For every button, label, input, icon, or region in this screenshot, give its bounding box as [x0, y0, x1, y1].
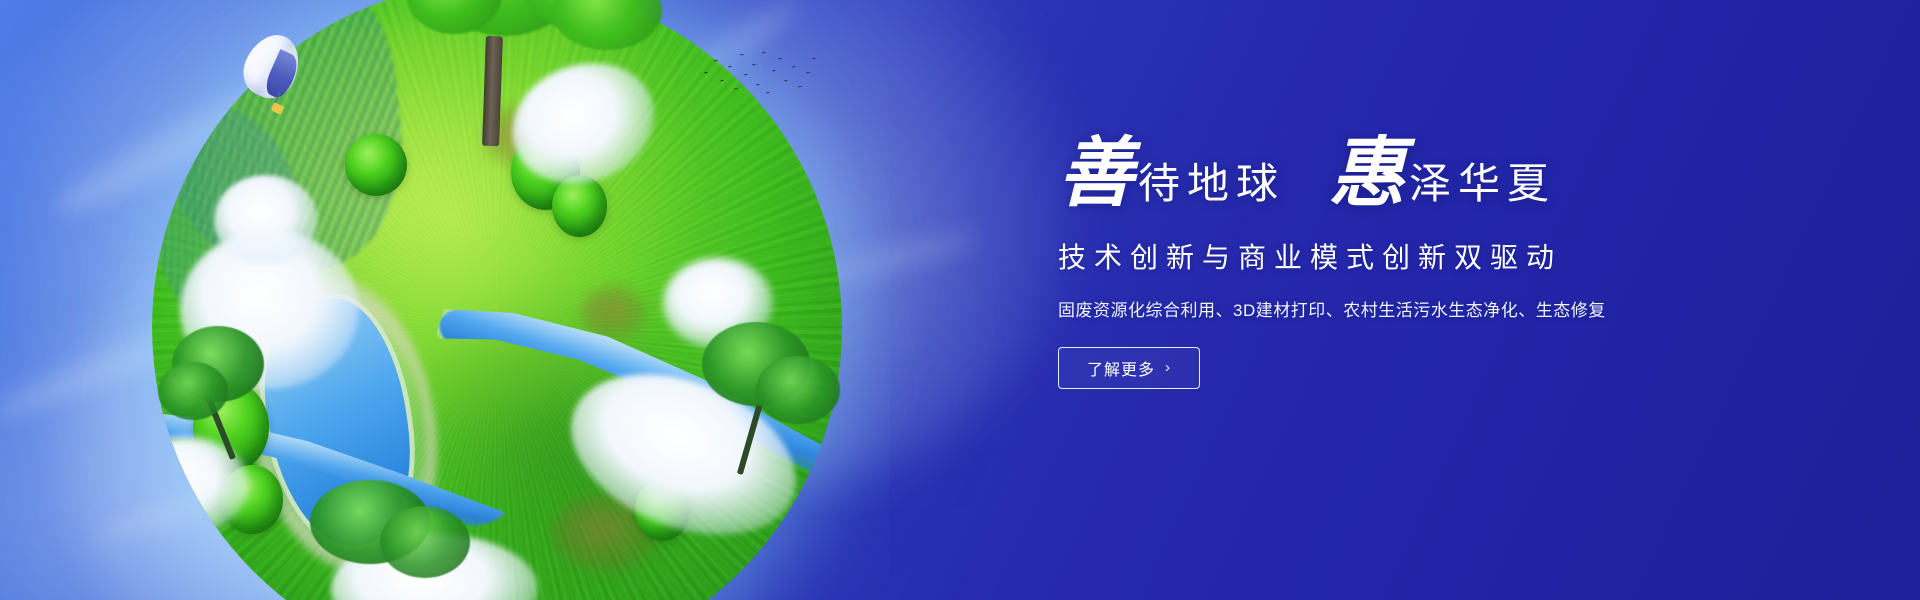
bird-icon	[784, 80, 788, 84]
bird-icon	[766, 92, 770, 96]
bird-icon	[756, 84, 760, 88]
eco-hero-banner: 善 待地球 惠 泽华夏 技术创新与商业模式创新双驱动 固废资源化综合利用、3D建…	[0, 0, 1920, 600]
balloon-basket	[271, 102, 285, 115]
bird-icon	[720, 80, 724, 84]
bird-icon	[734, 88, 738, 92]
bird-icon	[778, 58, 782, 62]
bird-icon	[752, 64, 756, 68]
bird-icon	[714, 60, 718, 64]
headline-sub-1: 待地球	[1138, 164, 1285, 210]
chevron-right-icon: ›	[1165, 360, 1171, 375]
bird-icon	[704, 72, 708, 76]
headline-char-2: 惠	[1329, 140, 1405, 210]
bird-icon	[762, 52, 766, 56]
learn-more-button[interactable]: 了解更多 ›	[1058, 347, 1200, 389]
bird-icon	[812, 58, 816, 62]
bird-flock	[700, 46, 818, 102]
bird-icon	[792, 66, 796, 70]
subtitle: 技术创新与商业模式创新双驱动	[1058, 236, 1778, 276]
globe-cloud	[214, 175, 318, 265]
bird-icon	[798, 86, 802, 90]
headline-sub-2: 泽华夏	[1409, 164, 1556, 210]
bush	[345, 134, 407, 196]
description: 固废资源化综合利用、3D建材打印、农村生活污水生态净化、生态修复	[1058, 296, 1778, 321]
bird-icon	[728, 66, 732, 70]
hot-air-balloon	[246, 34, 298, 126]
headline-char-1: 善	[1058, 140, 1134, 210]
hero-text-column: 善 待地球 惠 泽华夏 技术创新与商业模式创新双驱动 固废资源化综合利用、3D建…	[1058, 140, 1778, 389]
bird-icon	[740, 54, 744, 58]
bird-icon	[744, 74, 748, 78]
page-title: 善 待地球 惠 泽华夏	[1058, 140, 1778, 210]
globe-cloud	[663, 258, 773, 348]
bird-icon	[806, 72, 810, 76]
bird-icon	[772, 70, 776, 74]
learn-more-label: 了解更多	[1087, 356, 1155, 380]
